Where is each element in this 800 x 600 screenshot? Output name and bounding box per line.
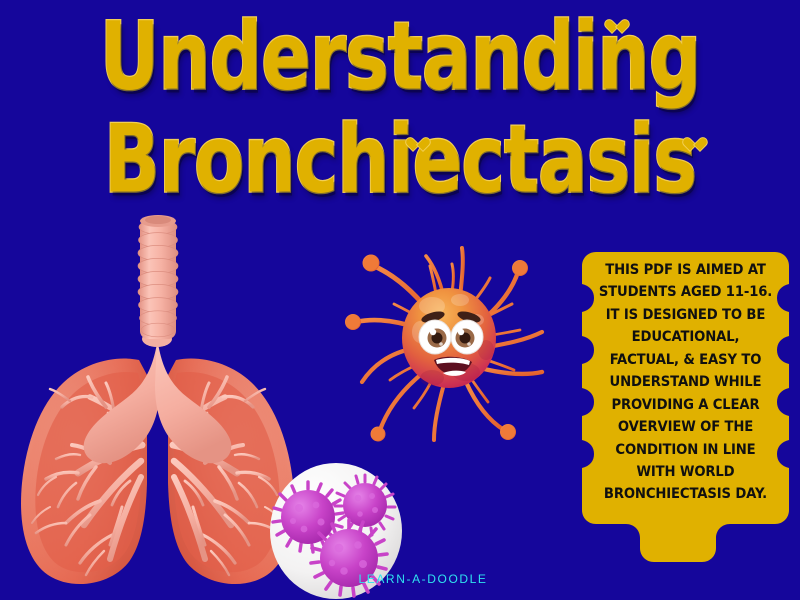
info-callout: THIS PDF IS AIMED AT STUDENTS AGED 11-16… (578, 248, 793, 568)
watermark-text: LEARN-A-DOODLE (312, 572, 487, 586)
page-title: Understanding Bronchiectasis (0, 8, 800, 184)
poster-canvas: Understanding Bronchiectasis (0, 0, 800, 600)
title-line-2: Bronchiectasis (0, 115, 800, 205)
germ-character (340, 232, 555, 447)
left-lung (21, 359, 147, 584)
watermark: LEARN-A-DOODLE (0, 572, 800, 586)
callout-text: THIS PDF IS AIMED AT STUDENTS AGED 11-16… (593, 257, 778, 557)
title-line-1: Understanding (0, 12, 800, 102)
trachea (138, 215, 178, 339)
trachea-rings (138, 220, 178, 337)
